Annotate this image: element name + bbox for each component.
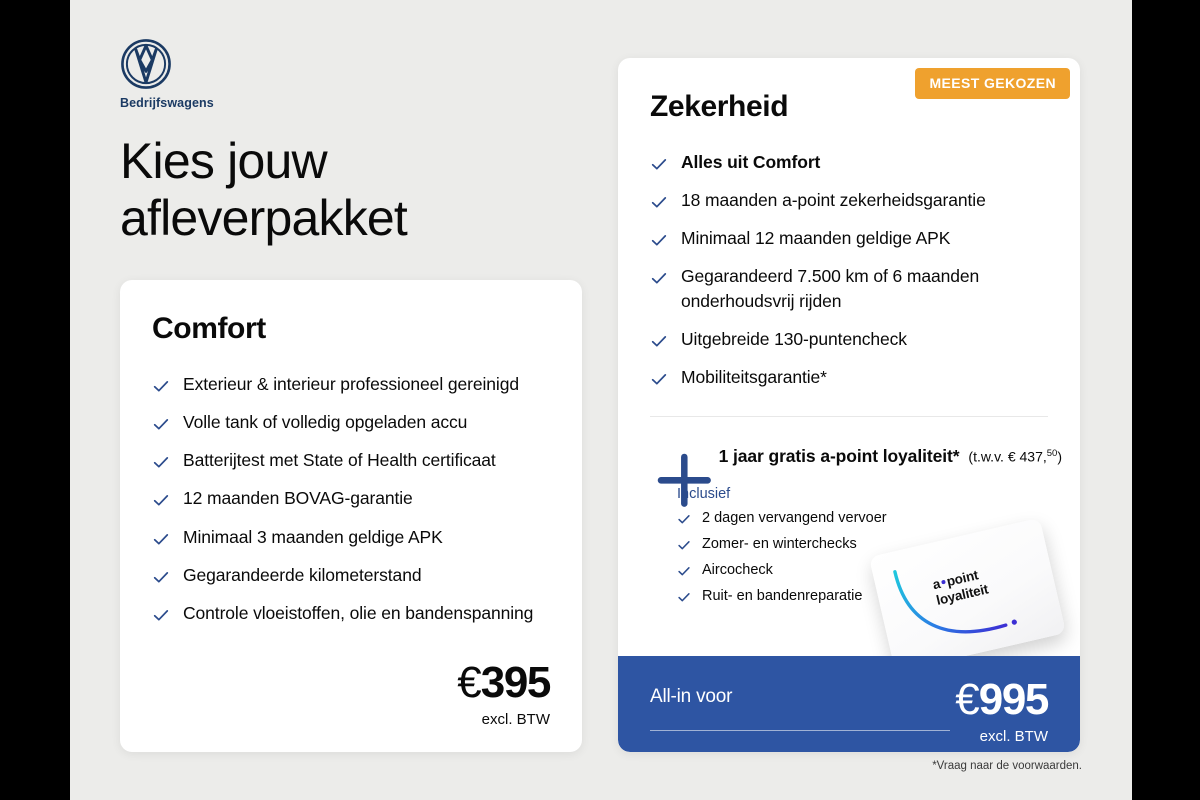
- bonus-label: 1 jaar gratis a-point loyaliteit*: [719, 446, 960, 467]
- feature-item: 18 maanden a-point zekerheidsgarantie: [650, 188, 1050, 212]
- feature-item: Volle tank of volledig opgeladen accu: [152, 410, 552, 434]
- package-title-zekerheid: Zekerheid: [650, 90, 788, 124]
- feature-label: Exterieur & interieur professioneel gere…: [183, 372, 519, 396]
- bonus-value-suffix: ): [1057, 449, 1062, 465]
- feature-list-zekerheid: Alles uit Comfort 18 maanden a-point zek…: [650, 150, 1050, 403]
- price-value: 395: [481, 658, 550, 707]
- currency-symbol: €: [457, 658, 480, 707]
- loyalty-dot-icon: [941, 580, 946, 585]
- check-icon: [152, 415, 170, 433]
- included-label: Aircocheck: [702, 561, 773, 579]
- check-icon: [677, 564, 691, 578]
- feature-item: Mobiliteitsgarantie*: [650, 365, 1050, 389]
- page-title-line-2: afleverpakket: [120, 190, 640, 247]
- section-divider: [650, 416, 1048, 417]
- check-icon: [152, 568, 170, 586]
- brand-block: Bedrijfswagens: [120, 38, 320, 110]
- bonus-value: (t.w.v. € 437,50): [968, 446, 1062, 465]
- bonus-value-prefix: (t.w.v. € 437,: [968, 449, 1046, 465]
- check-icon: [650, 231, 668, 249]
- included-title: Inclusief: [677, 486, 977, 502]
- bonus-value-cents: 50: [1047, 448, 1058, 459]
- page-canvas: Bedrijfswagens Kies jouw afleverpakket C…: [70, 0, 1132, 800]
- feature-label: Controle vloeistoffen, olie en bandenspa…: [183, 601, 533, 625]
- check-icon: [152, 606, 170, 624]
- screenshot-stage: Bedrijfswagens Kies jouw afleverpakket C…: [0, 0, 1200, 800]
- feature-item: Controle vloeistoffen, olie en bandenspa…: [152, 601, 552, 625]
- footnote: *Vraag naar de voorwaarden.: [932, 760, 1082, 772]
- feature-label: Mobiliteitsgarantie*: [681, 365, 827, 389]
- feature-label: Alles uit Comfort: [681, 150, 820, 174]
- price-amount-zekerheid: €995: [955, 678, 1048, 722]
- check-icon: [650, 370, 668, 388]
- included-label: Zomer- en winterchecks: [702, 535, 857, 553]
- price-note-zekerheid: excl. BTW: [955, 728, 1048, 745]
- vw-logo-icon: [120, 38, 172, 90]
- feature-label: Minimaal 12 maanden geldige APK: [681, 226, 950, 250]
- feature-list-comfort: Exterieur & interieur professioneel gere…: [152, 372, 552, 639]
- footer-label: All-in voor: [650, 686, 732, 708]
- check-icon: [650, 193, 668, 211]
- feature-label: 12 maanden BOVAG-garantie: [183, 486, 413, 510]
- price-block-zekerheid: €995 excl. BTW: [955, 678, 1048, 745]
- included-label: Ruit- en bandenreparatie: [702, 587, 862, 605]
- feature-item: Gegarandeerde kilometerstand: [152, 563, 552, 587]
- check-icon: [650, 155, 668, 173]
- check-icon: [677, 538, 691, 552]
- price-amount-comfort: €395: [457, 661, 550, 705]
- price-note-comfort: excl. BTW: [457, 711, 550, 728]
- included-label: 2 dagen vervangend vervoer: [702, 509, 887, 527]
- feature-label: Batterijtest met State of Health certifi…: [183, 448, 496, 472]
- feature-item: Exterieur & interieur professioneel gere…: [152, 372, 552, 396]
- check-icon: [152, 377, 170, 395]
- brand-sublabel: Bedrijfswagens: [120, 96, 320, 110]
- price-value: 995: [979, 675, 1048, 724]
- feature-label: Gegarandeerde kilometerstand: [183, 563, 421, 587]
- feature-item: Gegarandeerd 7.500 km of 6 maanden onder…: [650, 264, 1050, 312]
- package-title-comfort: Comfort: [152, 312, 266, 346]
- price-block-comfort: €395 excl. BTW: [457, 661, 550, 728]
- feature-item: Uitgebreide 130-puntencheck: [650, 327, 1050, 351]
- page-title-line-1: Kies jouw: [120, 133, 640, 190]
- check-icon: [650, 269, 668, 287]
- check-icon: [650, 332, 668, 350]
- list-item: 2 dagen vervangend vervoer: [677, 509, 977, 527]
- footer-rule: [650, 730, 950, 731]
- feature-item: Minimaal 3 maanden geldige APK: [152, 525, 552, 549]
- currency-symbol: €: [955, 675, 978, 724]
- page-title: Kies jouw afleverpakket: [120, 133, 640, 246]
- feature-label: Volle tank of volledig opgeladen accu: [183, 410, 467, 434]
- check-icon: [677, 512, 691, 526]
- check-icon: [152, 491, 170, 509]
- feature-label: Gegarandeerd 7.500 km of 6 maanden onder…: [681, 264, 1050, 312]
- price-footer-bar: All-in voor €995 excl. BTW: [618, 656, 1080, 752]
- package-card-zekerheid[interactable]: MEEST GEKOZEN Zekerheid Alles uit Comfor…: [618, 58, 1080, 752]
- package-card-comfort[interactable]: Comfort Exterieur & interieur profession…: [120, 280, 582, 752]
- status-badge-most-chosen: MEEST GEKOZEN: [915, 68, 1070, 99]
- feature-item: Alles uit Comfort: [650, 150, 1050, 174]
- feature-label: 18 maanden a-point zekerheidsgarantie: [681, 188, 986, 212]
- check-icon: [677, 590, 691, 604]
- check-icon: [152, 453, 170, 471]
- feature-item: Batterijtest met State of Health certifi…: [152, 448, 552, 472]
- check-icon: [152, 530, 170, 548]
- feature-label: Uitgebreide 130-puntencheck: [681, 327, 907, 351]
- feature-item: 12 maanden BOVAG-garantie: [152, 486, 552, 510]
- feature-label: Minimaal 3 maanden geldige APK: [183, 525, 443, 549]
- feature-item: Minimaal 12 maanden geldige APK: [650, 226, 1050, 250]
